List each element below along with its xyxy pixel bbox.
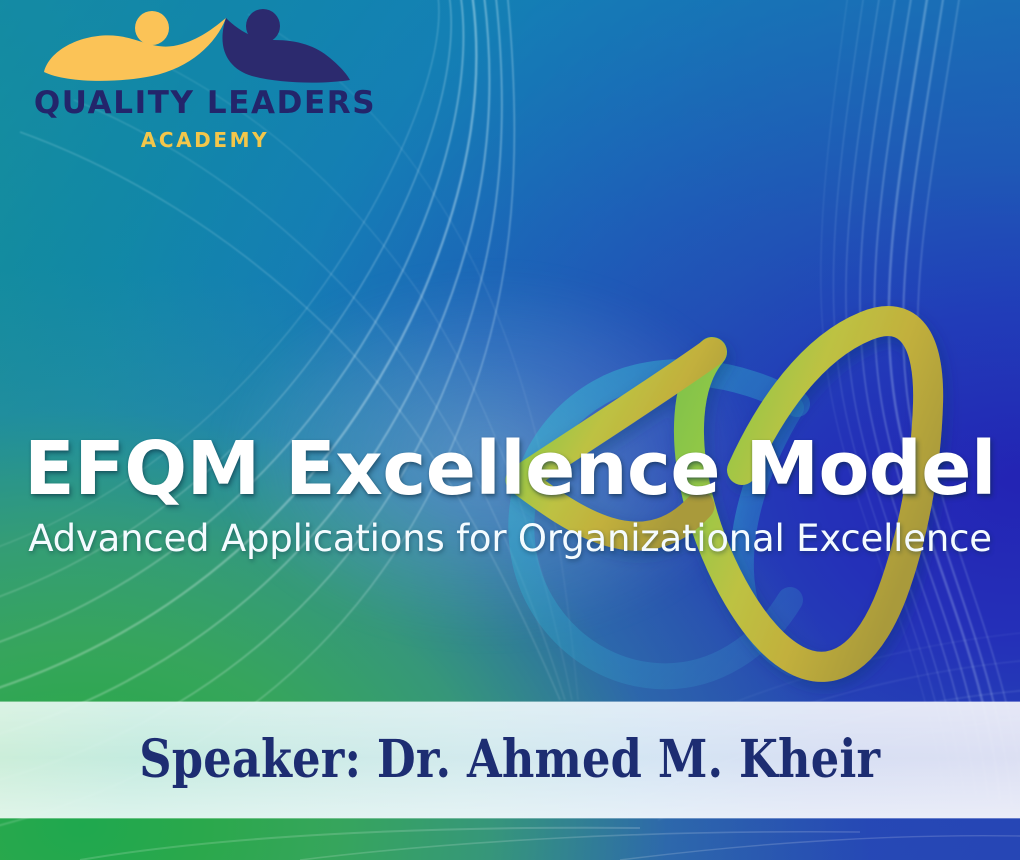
hero-text-block: EFQM Excellence Model Advanced Applicati… — [0, 432, 1020, 560]
brand-name-secondary: ACADEMY — [30, 130, 380, 150]
speaker-name: Speaker: Dr. Ahmed M. Kheir — [140, 734, 881, 786]
page-title: EFQM Excellence Model — [0, 432, 1020, 507]
speaker-banner: Speaker: Dr. Ahmed M. Kheir — [0, 702, 1020, 818]
presentation-slide: QUALITY LEADERS ACADEMY EFQM Excellence … — [0, 0, 1020, 860]
academy-logo: QUALITY LEADERS ACADEMY — [30, 8, 380, 160]
two-people-swoosh-icon — [30, 8, 380, 84]
brand-name-primary: QUALITY LEADERS — [30, 88, 380, 119]
page-subtitle: Advanced Applications for Organizational… — [0, 519, 1020, 560]
